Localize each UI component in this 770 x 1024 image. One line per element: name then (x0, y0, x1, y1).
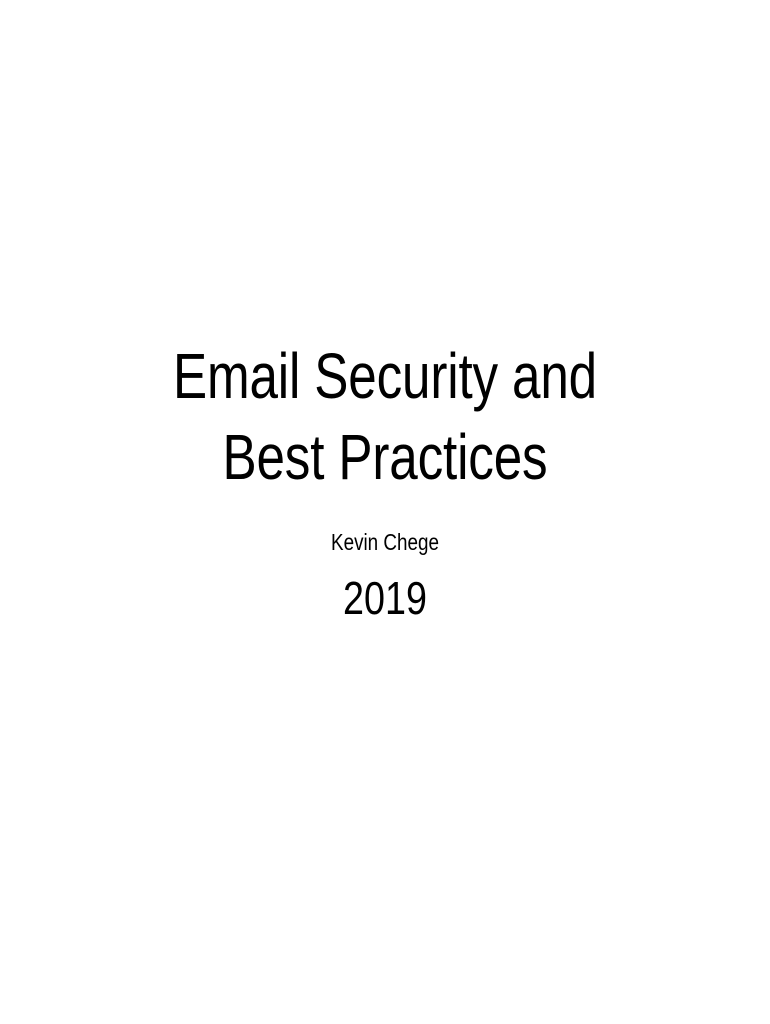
slide-content: Email Security and Best Practices Kevin … (0, 0, 770, 1024)
slide-page: Email Security and Best Practices Kevin … (0, 0, 770, 1024)
author-name: Kevin Chege (123, 528, 648, 557)
subtitle-block: Kevin Chege 2019 (65, 528, 705, 626)
title-block: Email Security and Best Practices (65, 336, 705, 497)
slide-title: Email Security and Best Practices (129, 336, 641, 497)
year-label: 2019 (123, 571, 648, 626)
